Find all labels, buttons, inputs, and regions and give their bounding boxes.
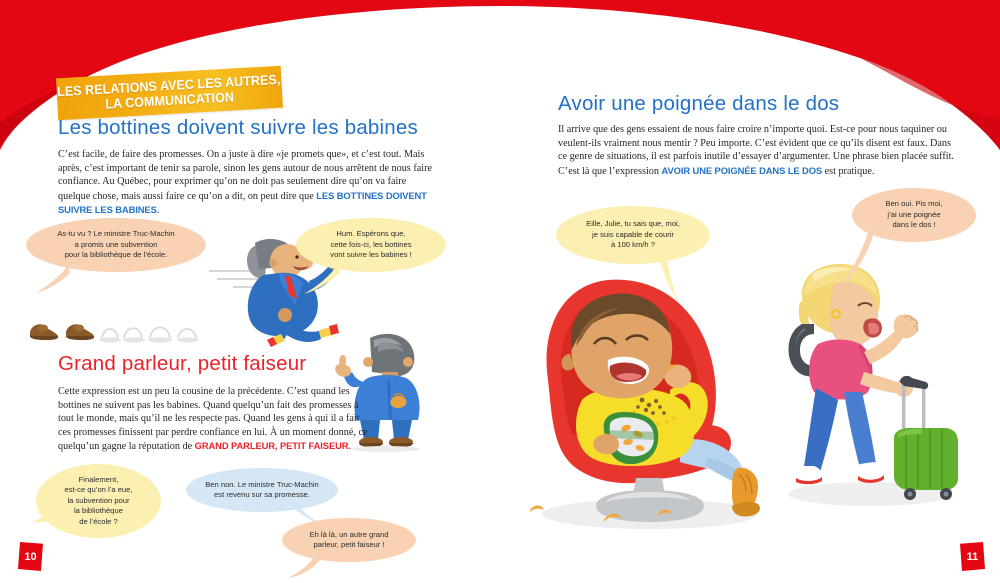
- bubble-finalement: Finalement, est-ce qu’on l’a eue, la sub…: [36, 464, 161, 538]
- bubble-as-tu-vu: As-tu vu ? Le ministre Truc-Machin a pro…: [26, 218, 206, 272]
- bubble-ben-non: Ben non. Le ministre Truc-Machin est rev…: [186, 468, 338, 512]
- left-section2-paragraph: Cette expression est un peu la cousine d…: [58, 385, 373, 454]
- page-number-right: 11: [960, 542, 985, 571]
- man-in-red-egg-chair-eating-chips: [510, 262, 770, 530]
- left-section2-keyword: GRAND PARLEUR, PETIT FAISEUR.: [195, 440, 351, 451]
- right-section1-paragraph: Il arrive que des gens essaient de nous …: [558, 123, 954, 178]
- bubble-eille-julie: Eille, Julie, tu sais que, moi, je suis …: [556, 206, 710, 264]
- left-section1-heading: Les bottines doivent suivre les babines: [58, 116, 458, 140]
- left-section2-heading: Grand parleur, petit faiseur: [58, 352, 458, 376]
- right-section1-heading: Avoir une poignée dans le dos: [558, 92, 958, 116]
- page-number-left: 10: [18, 542, 43, 571]
- brown-shoes-left-behind: [24, 312, 224, 344]
- left-section1-paragraph: C’est facile, de faire des promesses. On…: [58, 148, 439, 218]
- book-spread: LES RELATIONS AVEC LES AUTRES, LA COMMUN…: [0, 0, 1000, 583]
- bubble-ben-oui: Ben oui. Pis moi, j’ai une poignée dans …: [852, 188, 976, 242]
- right-section1-keyword: AVOIR UNE POIGNÉE DANS LE DOS: [662, 165, 823, 176]
- bubble-eh-la-la: Eh là là, un autre grand parleur, petit …: [282, 518, 416, 562]
- woman-with-green-suitcase-and-handle-on-back: [782, 262, 960, 520]
- right-section1-text-after: est pratique.: [822, 166, 874, 177]
- bubble-hum-esperons: Hum. Espérons que, cette fois-ci, les bo…: [296, 218, 446, 272]
